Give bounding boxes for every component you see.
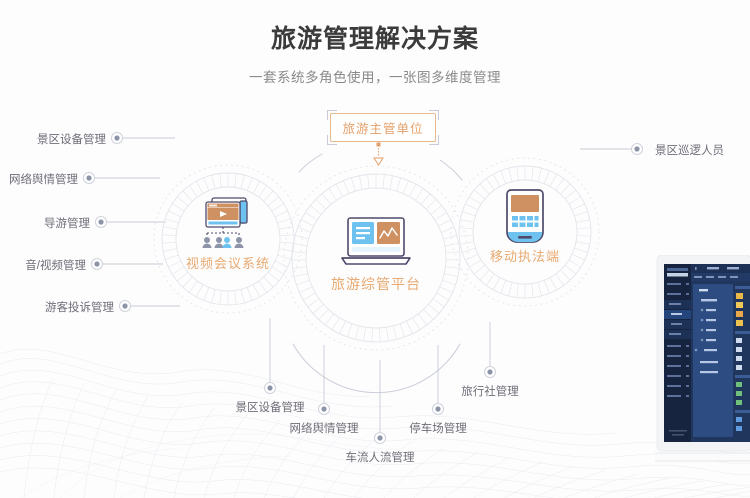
laptop-chart-icon: [338, 216, 414, 270]
node-label-bottom-1[interactable]: 网络舆情管理: [290, 420, 359, 436]
corner-bracket-tr: [429, 110, 439, 120]
node-dot-left-0[interactable]: [112, 133, 123, 144]
laptop-chart-icon-wrap: [338, 216, 414, 275]
mobile-device-icon-wrap: [502, 188, 548, 251]
node-dot-bottom-1[interactable]: [319, 404, 330, 415]
authority-label: 旅游主管单位: [342, 118, 423, 137]
node-label-left-4[interactable]: 游客投诉管理: [45, 299, 114, 315]
hub-title-mobile-enforcement: 移动执法端: [459, 246, 591, 265]
node-label-left-3[interactable]: 音/视频管理: [25, 257, 86, 273]
hub-tourism-platform[interactable]: 旅游综管平台: [292, 174, 460, 342]
node-dot-right-0[interactable]: [632, 144, 643, 155]
corner-bracket-br: [429, 135, 439, 145]
node-label-bottom-2[interactable]: 车流人流管理: [346, 449, 415, 465]
video-conference-icon-wrap: [196, 195, 260, 258]
video-conference-icon: [196, 195, 260, 253]
node-label-bottom-4[interactable]: 旅行社管理: [461, 383, 519, 399]
node-dot-left-1[interactable]: [84, 173, 95, 184]
corner-bracket-bl: [327, 135, 337, 145]
hub-title-video-conference: 视频会议系统: [162, 253, 294, 272]
node-dot-bottom-3[interactable]: [433, 404, 444, 415]
hub-title-tourism-platform: 旅游综管平台: [292, 274, 460, 294]
node-dot-bottom-4[interactable]: [485, 367, 496, 378]
corner-bracket-tl: [327, 110, 337, 120]
mobile-device-icon: [502, 188, 548, 246]
node-dot-left-4[interactable]: [120, 301, 131, 312]
node-label-left-2[interactable]: 导游管理: [44, 215, 90, 231]
hub-mobile-enforcement[interactable]: 移动执法端: [459, 166, 591, 298]
node-dot-left-3[interactable]: [92, 259, 103, 270]
node-label-left-1[interactable]: 网络舆情管理: [9, 171, 78, 187]
node-dot-bottom-2[interactable]: [375, 433, 386, 444]
node-label-right-0[interactable]: 景区巡逻人员: [655, 142, 724, 158]
node-dot-left-2[interactable]: [96, 217, 107, 228]
node-dot-bottom-0[interactable]: [265, 383, 276, 394]
node-label-left-0[interactable]: 景区设备管理: [37, 131, 106, 147]
node-label-bottom-0[interactable]: 景区设备管理: [236, 399, 305, 415]
poster-canvas: 旅游管理解决方案 一套系统多角色使用，一张图多维度管理 旅游主管单位: [0, 0, 750, 498]
hub-video-conference[interactable]: 视频会议系统: [162, 173, 294, 305]
authority-arrow-icon: [374, 143, 383, 165]
dashboard-laptop-mockup: [655, 255, 750, 473]
authority-box[interactable]: 旅游主管单位: [330, 113, 436, 142]
node-label-bottom-3[interactable]: 停车场管理: [409, 420, 467, 436]
